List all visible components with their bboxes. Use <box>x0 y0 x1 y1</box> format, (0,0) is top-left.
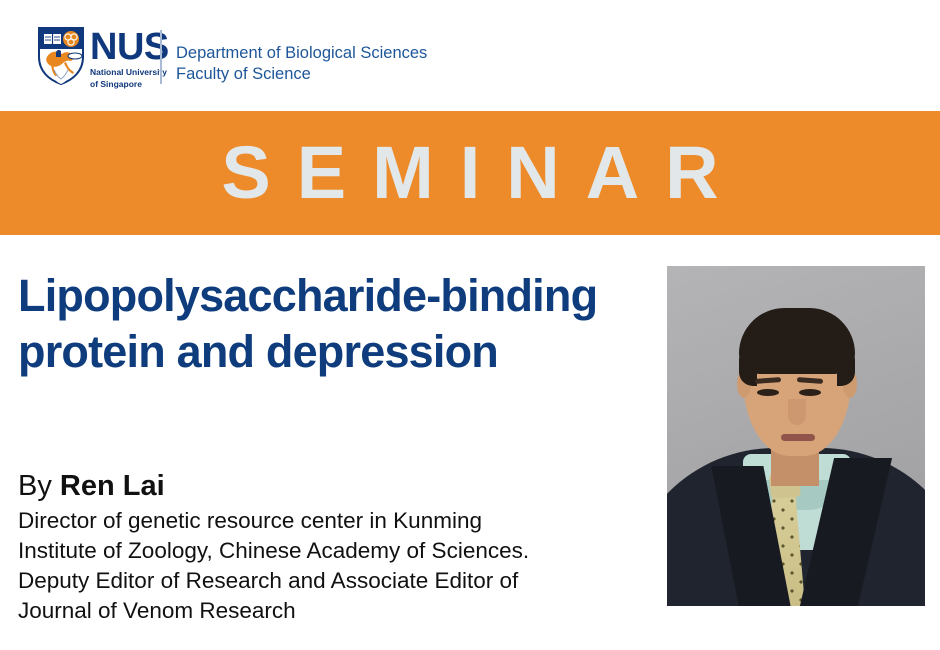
seminar-banner-label: SEMINAR <box>195 136 744 210</box>
nus-wordmark: NUS National University of Singapore <box>90 27 169 89</box>
portrait-nose <box>788 399 806 425</box>
affiliation-line: Journal of Venom Research <box>18 596 663 626</box>
seminar-banner: SEMINAR <box>0 111 940 235</box>
department-line-1: Department of Biological Sciences <box>176 43 427 64</box>
affiliation-line: Director of genetic resource center in K… <box>18 506 663 536</box>
nus-crest-icon <box>38 27 84 85</box>
page-header: NUS National University of Singapore Dep… <box>0 0 940 111</box>
nus-sub-line-2: of Singapore <box>90 79 169 89</box>
speaker-portrait-photo <box>667 266 925 606</box>
affiliation-line: Deputy Editor of Research and Associate … <box>18 566 663 596</box>
speaker-block: By Ren Lai Director of genetic resource … <box>18 468 663 626</box>
affiliation-line: Institute of Zoology, Chinese Academy of… <box>18 536 663 566</box>
speaker-name: Ren Lai <box>60 470 165 502</box>
nus-logo: NUS National University of Singapore <box>38 27 169 89</box>
speaker-byline: By Ren Lai <box>18 468 663 504</box>
portrait-eye-right <box>799 389 821 396</box>
byline-prefix: By <box>18 470 60 502</box>
portrait-mouth <box>781 434 815 441</box>
nus-letters: NUS <box>90 29 169 65</box>
seminar-title: Lipopolysaccharide-binding protein and d… <box>18 268 678 380</box>
header-divider <box>160 30 162 84</box>
department-line-2: Faculty of Science <box>176 64 427 85</box>
nus-sub-line-1: National University <box>90 67 169 77</box>
department-title: Department of Biological Sciences Facult… <box>176 43 427 85</box>
portrait-eye-left <box>757 389 779 396</box>
